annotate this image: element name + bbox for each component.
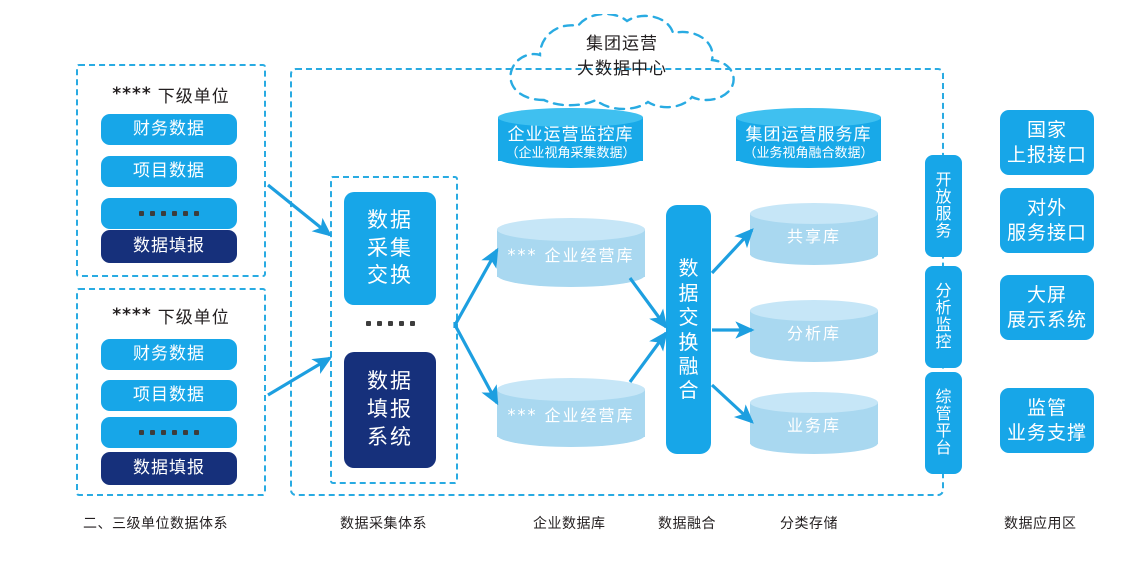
unit2-item-3-label: 数据填报 [133,460,205,477]
data-reporting-system-box[interactable]: 数据 填报 系统 [344,352,436,468]
unit1-item-project-data[interactable]: 项目数据 [101,156,237,187]
collection-ellipsis [344,316,436,330]
db-name: 企业经营库 [544,402,634,426]
caption-data-application-area: 数据应用区 [1004,513,1077,533]
architecture-diagram: 集团运营 大数据中心 **** 下级单位 财务数据 项目数据 数据填报 ****… [0,0,1147,574]
cylinder-label: 企业运营监控库 （企业视角采集数据） [498,124,643,164]
cloud-label-line1: 集团运营 [586,32,658,57]
integrated-platform-char-3: 台 [935,440,951,457]
cloud-label: 集团运营 大数据中心 [496,26,748,88]
db-name: 企业经营库 [544,242,634,266]
data-exchange-fusion-box[interactable]: 数 据 交 换 融 合 [666,205,711,454]
cloud-label-line2: 大数据中心 [577,57,667,82]
shared-db[interactable]: 共享库 [750,203,878,267]
app-1-line2: 服务接口 [1007,221,1087,246]
cylinder-bottom [497,263,645,287]
open-service-char-3: 务 [935,223,951,240]
reporting-box-line1: 数据 [367,368,413,396]
collection-box-line2: 采集 [367,235,413,263]
unit2-item-0-label: 财务数据 [133,346,205,363]
app-0-line2: 上报接口 [1007,143,1087,168]
fusion-char-1: 据 [679,281,699,305]
app-2-line1: 大屏 [1027,283,1067,308]
external-service-interface-box[interactable]: 对外 服务接口 [1000,188,1094,253]
db-sub: （企业视角采集数据） [505,146,635,162]
unit1-item-financial-data[interactable]: 财务数据 [101,114,237,145]
subordinate-unit-title-2: **** 下级单位 [76,301,266,329]
app-3-line1: 监管 [1027,396,1067,421]
enterprise-business-db-1[interactable]: *** 企业经营库 [497,218,645,290]
unit-title-stars-1: **** [112,84,152,104]
cylinder-label: *** 企业经营库 [497,242,645,266]
app-0-line1: 国家 [1027,118,1067,143]
unit1-item-ellipsis[interactable] [101,198,237,229]
unit2-item-ellipsis[interactable] [101,417,237,448]
app-1-line1: 对外 [1027,196,1067,221]
app-2-line2: 展示系统 [1007,308,1087,333]
unit2-item-project-data[interactable]: 项目数据 [101,380,237,411]
integrated-management-platform-box[interactable]: 综 管 平 台 [925,372,962,474]
unit1-item-data-reporting[interactable]: 数据填报 [101,230,237,263]
unit2-item-financial-data[interactable]: 财务数据 [101,339,237,370]
large-screen-display-system-box[interactable]: 大屏 展示系统 [1000,275,1094,340]
enterprise-business-db-2[interactable]: *** 企业经营库 [497,378,645,450]
caption-classified-storage: 分类存储 [780,513,838,533]
caption-enterprise-database: 企业数据库 [533,513,606,533]
fusion-char-2: 交 [679,305,699,329]
regulatory-business-support-box[interactable]: 监管 业务支撑 [1000,388,1094,453]
db-sub: （业务视角融合数据） [743,146,873,162]
group-operation-service-db[interactable]: 集团运营服务库 （业务视角融合数据） [736,108,881,170]
fusion-char-0: 数 [679,256,699,280]
unit-title-text-1: 下级单位 [158,82,230,107]
db-name: 集团运营服务库 [746,126,872,146]
db-stars: *** [507,245,537,264]
fusion-char-5: 合 [679,378,699,402]
subordinate-unit-title-1: **** 下级单位 [76,80,266,108]
db-name: 分析库 [787,320,841,344]
unit-title-text-2: 下级单位 [158,303,230,328]
enterprise-operation-monitor-db[interactable]: 企业运营监控库 （企业视角采集数据） [498,108,643,170]
db-name: 企业运营监控库 [508,126,634,146]
national-reporting-interface-box[interactable]: 国家 上报接口 [1000,110,1094,175]
cylinder-label: 集团运营服务库 （业务视角融合数据） [736,124,881,164]
cylinder-label: *** 企业经营库 [497,402,645,426]
analysis-monitor-char-3: 控 [935,334,951,351]
db-stars: *** [507,405,537,424]
analysis-monitoring-box[interactable]: 分 析 监 控 [925,266,962,368]
reporting-box-line3: 系统 [367,424,413,452]
unit1-item-1-label: 项目数据 [133,163,205,180]
analysis-db[interactable]: 分析库 [750,300,878,364]
caption-data-collection-system: 数据采集体系 [340,513,427,533]
cylinder-top [750,203,878,224]
app-3-line2: 业务支撑 [1007,421,1087,446]
cylinder-top [750,300,878,321]
business-db[interactable]: 业务库 [750,392,878,456]
open-service-box[interactable]: 开 放 服 务 [925,155,962,257]
fusion-char-4: 融 [679,354,699,378]
unit2-item-1-label: 项目数据 [133,387,205,404]
cylinder-label: 分析库 [750,321,878,343]
cylinder-top [497,378,645,401]
fusion-char-3: 换 [679,330,699,354]
data-collection-exchange-box[interactable]: 数据 采集 交换 [344,192,436,305]
unit1-item-0-label: 财务数据 [133,121,205,138]
cylinder-label: 共享库 [750,224,878,246]
cylinder-label: 业务库 [750,413,878,435]
collection-box-line1: 数据 [367,207,413,235]
db-name: 业务库 [787,412,841,436]
unit2-item-data-reporting[interactable]: 数据填报 [101,452,237,485]
db-name: 共享库 [787,223,841,247]
cylinder-top [750,392,878,413]
unit-title-stars-2: **** [112,305,152,325]
cylinder-top [497,218,645,241]
caption-subordinate-unit-system: 二、三级单位数据体系 [83,513,228,533]
unit1-item-3-label: 数据填报 [133,238,205,255]
caption-data-fusion: 数据融合 [658,513,716,533]
reporting-box-line2: 填报 [367,396,413,424]
cylinder-bottom [497,423,645,447]
collection-box-line3: 交换 [367,262,413,290]
